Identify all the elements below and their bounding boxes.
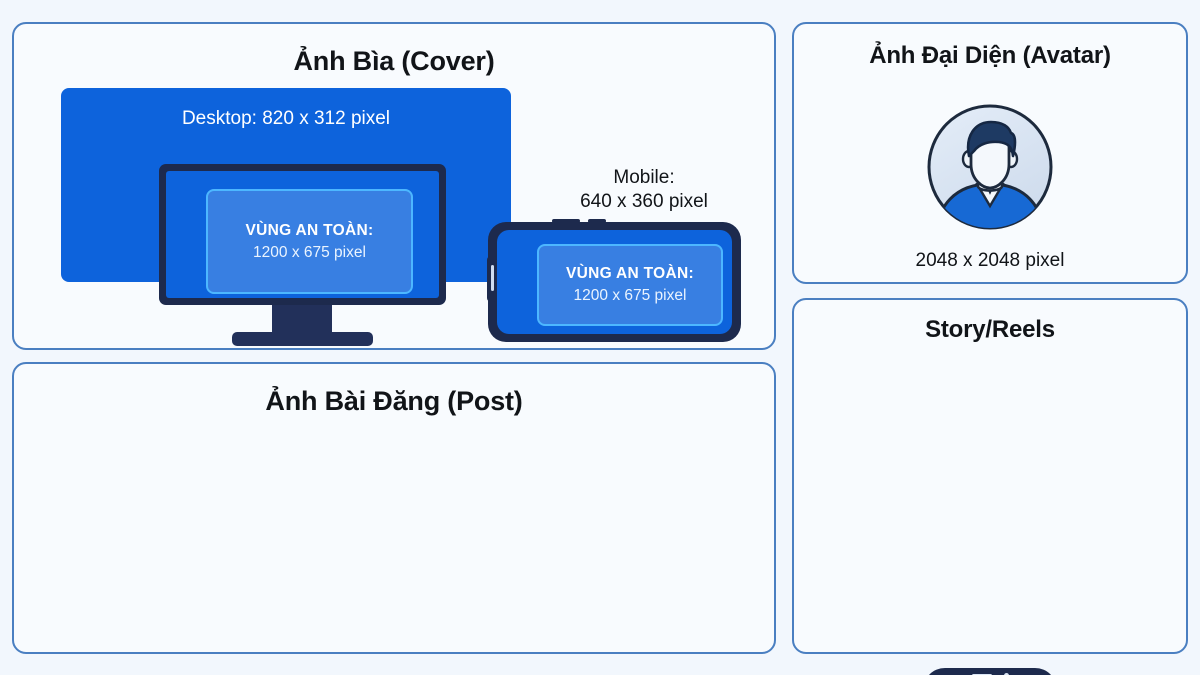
card-post: Ảnh Bài Đăng (Post) 4:5 (Dọc) 1200 x 150… xyxy=(12,362,776,654)
cover-phone-safezone-title: VÙNG AN TOÀN: xyxy=(566,265,694,283)
cover-mobile-phone-icon: VÙNG AN TOÀN: 1200 x 675 pixel xyxy=(488,222,741,342)
card-story: Story/Reels 9:16 1080 x 1920 pixel xyxy=(792,298,1188,654)
infographic-stage: Ảnh Bìa (Cover) Desktop: 820 x 312 pixel… xyxy=(0,0,1200,675)
cover-phone-safezone-size: 1200 x 675 pixel xyxy=(574,287,687,305)
avatar-size-label: 2048 x 2048 pixel xyxy=(794,250,1186,272)
avatar-title: Ảnh Đại Diện (Avatar) xyxy=(794,42,1186,70)
cover-phone-safezone-box: VÙNG AN TOÀN: 1200 x 675 pixel xyxy=(537,244,723,326)
monitor-screen: VÙNG AN TOÀN: 1200 x 675 pixel xyxy=(166,171,439,298)
cover-phone-screen: VÙNG AN TOÀN: 1200 x 675 pixel xyxy=(497,230,732,334)
card-avatar: Ảnh Đại Diện (Avatar) xyxy=(792,22,1188,284)
card-cover: Ảnh Bìa (Cover) Desktop: 820 x 312 pixel… xyxy=(12,22,776,350)
cover-mobile-label: Mobile: 640 x 360 pixel xyxy=(544,166,744,213)
phone-button-power xyxy=(588,219,606,223)
monitor-safezone-box: VÙNG AN TOÀN: 1200 x 675 pixel xyxy=(206,189,413,294)
cover-mobile-label-line2: 640 x 360 pixel xyxy=(544,190,744,214)
story-phone-icon: 9:16 1080 x 1920 pixel xyxy=(923,668,1057,675)
cover-desktop-label: Desktop: 820 x 312 pixel xyxy=(61,108,511,130)
cover-mobile-label-line1: Mobile: xyxy=(544,166,744,190)
phone-notch-icon xyxy=(959,668,1021,675)
user-avatar-icon xyxy=(925,102,1055,237)
post-title: Ảnh Bài Đăng (Post) xyxy=(14,386,774,417)
story-title: Story/Reels xyxy=(794,316,1186,344)
monitor-bezel: VÙNG AN TOÀN: 1200 x 675 pixel xyxy=(159,164,446,305)
cover-title: Ảnh Bìa (Cover) xyxy=(14,46,774,77)
phone-earpiece-notch xyxy=(487,256,497,302)
monitor-safezone-title: VÙNG AN TOÀN: xyxy=(246,222,374,240)
phone-button-volume xyxy=(552,219,580,223)
desktop-monitor-icon: VÙNG AN TOÀN: 1200 x 675 pixel xyxy=(159,164,446,346)
monitor-safezone-size: 1200 x 675 pixel xyxy=(253,244,366,262)
monitor-stand-base xyxy=(232,332,373,346)
